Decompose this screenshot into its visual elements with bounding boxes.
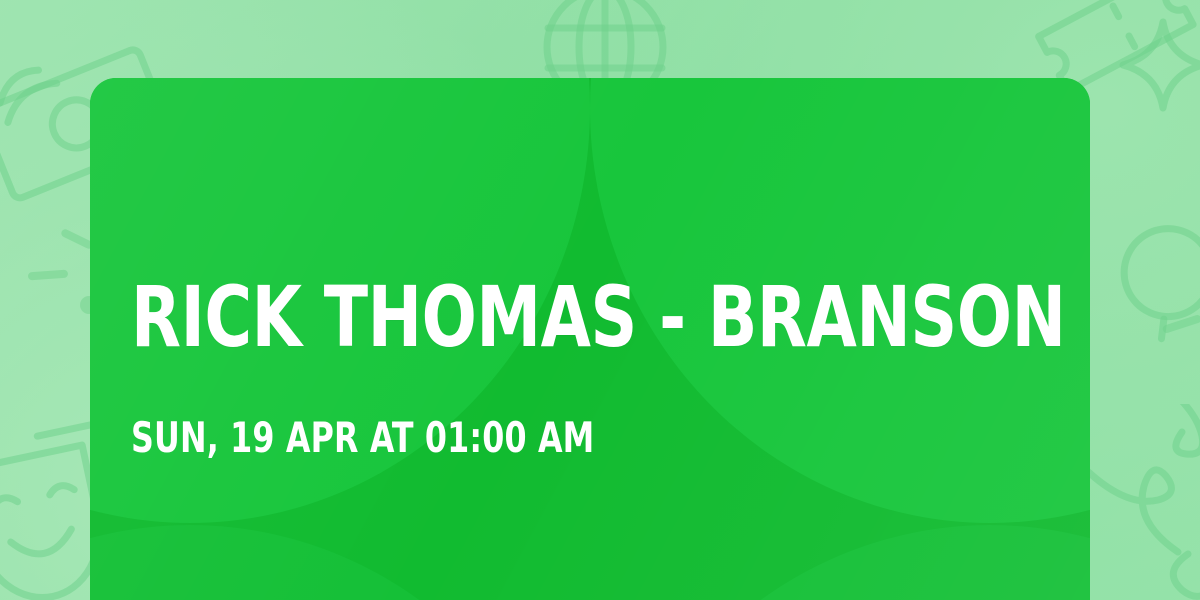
confetti-dash-icon <box>1160 312 1200 336</box>
event-datetime: SUN, 19 APR AT 01:00 AM <box>131 416 594 460</box>
microphone-icon <box>1118 205 1200 380</box>
confetti-swirl-icon <box>1080 404 1200 600</box>
confetti-dash-icon <box>26 264 72 286</box>
event-title: RICK THOMAS - BRANSON <box>131 274 1066 360</box>
event-banner: RICK THOMAS - BRANSON SUN, 19 APR AT 01:… <box>0 0 1200 600</box>
petal-bottom-left <box>90 525 590 600</box>
petal-bottom-right <box>590 525 1090 600</box>
event-card[interactable]: RICK THOMAS - BRANSON SUN, 19 APR AT 01:… <box>90 78 1090 600</box>
sparkle-icon <box>1108 8 1200 123</box>
